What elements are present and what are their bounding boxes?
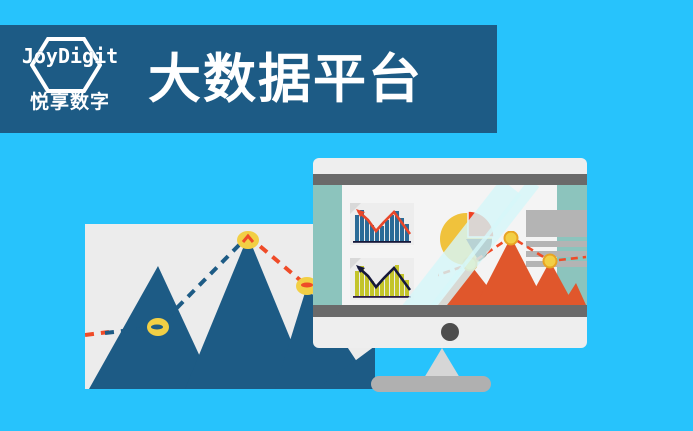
brand-subtitle: 悦享数字 [14,90,126,114]
monitor-base [371,376,491,392]
brand-logo: JoyDigit 悦享数字 [14,33,126,125]
olive-bar-chart-card[interactable] [350,258,414,300]
axis-line [353,241,411,243]
monitor-bottom-bar [313,305,587,317]
axis-line [353,296,411,298]
page-fold-corner [350,258,361,269]
poster-canvas: JoyDigit 悦享数字 大数据平台 [0,0,693,431]
data-marker [505,232,518,245]
data-marker [544,255,557,268]
data-marker-inner [301,283,313,288]
orange-mountain-chart [438,231,586,305]
blue-bar-chart-card[interactable] [350,203,414,245]
monitor-screen [313,185,587,305]
monitor-stand [424,348,460,378]
power-button[interactable] [441,323,459,341]
screen-content-area [342,185,557,305]
page-title: 大数据平台 [148,53,423,106]
monitor-top-bar [313,174,587,185]
page-fold-corner [350,203,361,214]
header-banner: JoyDigit 悦享数字 大数据平台 [0,25,497,133]
data-marker-inner [151,325,163,330]
data-marker [464,258,477,271]
brand-wordmark: JoyDigit [14,45,126,67]
orange-mountain-chart-svg [438,231,586,305]
desktop-monitor [313,158,587,348]
